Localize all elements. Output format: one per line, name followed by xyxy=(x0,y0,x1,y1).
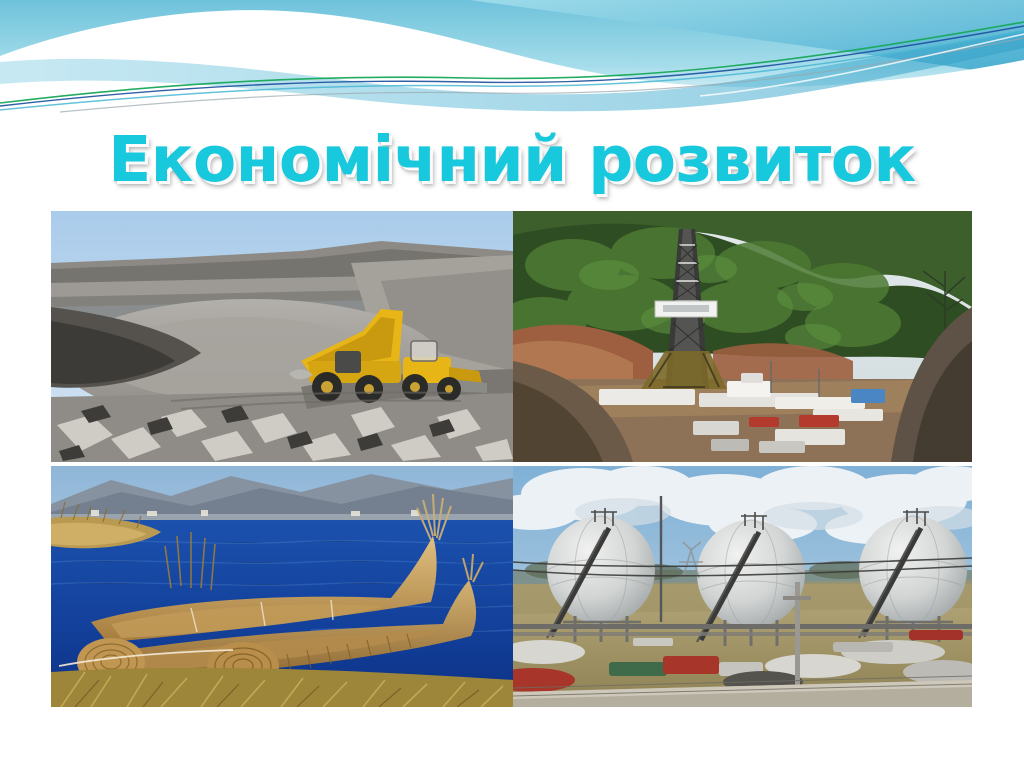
gas-spheres-illustration xyxy=(513,466,972,707)
photo-gas-storage-spheres xyxy=(513,466,972,707)
slide-canvas: Економічний розвиток xyxy=(0,0,1024,767)
picture-grid xyxy=(51,211,972,707)
header-wave-decoration xyxy=(0,0,1024,118)
photo-drilling-rig xyxy=(513,211,972,462)
open-pit-mine-illustration xyxy=(51,211,513,462)
page-title: Економічний розвиток xyxy=(108,124,916,196)
photo-open-pit-mine xyxy=(51,211,513,462)
wave-graphic xyxy=(0,0,1024,118)
photo-reed-boats xyxy=(51,466,513,707)
drilling-rig-illustration xyxy=(513,211,972,462)
reed-boats-illustration xyxy=(51,466,513,707)
title-block: Економічний розвиток xyxy=(0,124,1024,196)
